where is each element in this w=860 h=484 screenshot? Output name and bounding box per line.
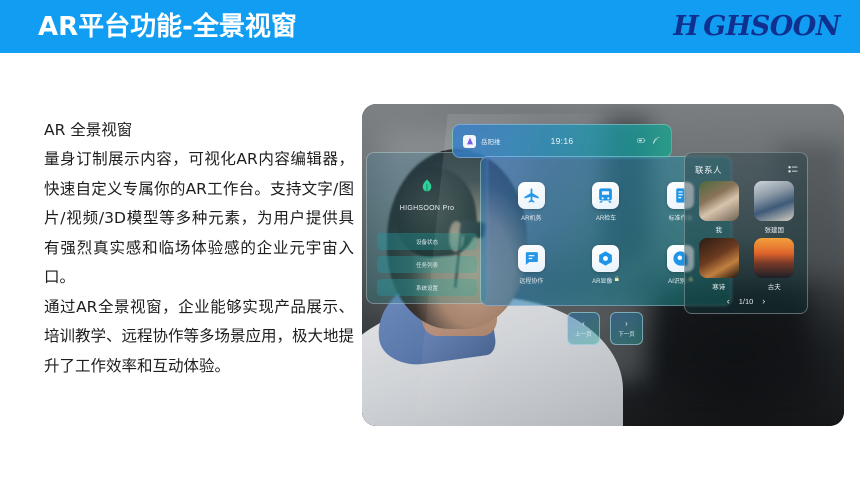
description-paragraph-1: 量身订制展示内容，可视化AR内容编辑器，快速自定义专属你的AR工作台。支持文字/… [44,145,354,293]
app-label: AR显像 [592,276,620,285]
contact-item[interactable]: 古夫 [752,238,798,291]
contact-item[interactable]: 我 [696,181,742,234]
page-title: AR平台功能-全景视窗 [38,14,297,40]
avatar [754,181,794,221]
ar-side-panel[interactable]: HIGHSOON Pro 设备状态 任务列表 系统设置 [366,152,488,304]
contact-item[interactable]: 张建国 [752,181,798,234]
train-car-icon [592,182,619,209]
side-panel-row[interactable]: 任务列表 [377,256,477,273]
list-menu-icon[interactable] [788,161,798,179]
prev-page-label: 上一页 [575,330,592,338]
page-header: AR平台功能-全景视窗 H GHSOON [0,0,860,53]
remote-chat-icon [518,245,545,272]
avatar [699,238,739,278]
app-item-ar-jiwu[interactable]: AR机务 [495,171,568,232]
contacts-header: 联系人 [695,161,798,179]
app-label-text: 远程协作 [519,276,543,285]
ar-hologram-layer: HIGHSOON Pro 设备状态 任务列表 系统设置 岳阳维 19:16 [362,104,844,426]
ar-status-bar: 岳阳维 19:16 [452,124,672,158]
contact-item[interactable]: 寒诗 [696,238,742,291]
wifi-signal-icon [652,136,661,147]
app-label-text: AR机务 [521,213,541,222]
contact-name: 张建国 [765,224,785,234]
chevron-left-icon: ‹ [582,320,585,328]
app-label: AR检车 [596,213,616,222]
airplane-icon [518,182,545,209]
side-panel-title: HIGHSOON Pro [367,205,487,212]
brand-logo: H GHSOON [673,11,840,42]
avatar [754,238,794,278]
app-badge-icon [463,135,476,148]
brand-logo-lead: H [673,11,698,42]
contacts-title: 联系人 [695,164,722,176]
contacts-pagination: ‹ 1/10 › [685,297,807,306]
app-label-text: AR显像 [592,276,612,285]
chevron-right-icon[interactable]: › [762,297,765,306]
app-item-ar-xianxiang[interactable]: AR显像 [570,234,643,295]
ar-contacts-panel: 联系人 我 张建国 寒诗 [684,152,808,314]
next-page-label: 下一页 [618,330,635,338]
app-label-text: AR检车 [596,213,616,222]
side-panel-row[interactable]: 系统设置 [377,279,477,296]
brand-logo-rest: GHSOON [703,11,840,42]
app-label: 远程协作 [519,276,543,285]
ar-page-buttons: ‹ 上一页 › 下一页 [567,312,643,345]
description-paragraph-2: 通过AR全景视窗，企业能够实现产品展示、培训教学、远程协作等多场景应用，极大地提… [44,293,354,382]
ar-scene-photo: HIGHSOON Pro 设备状态 任务列表 系统设置 岳阳维 19:16 [362,104,844,426]
contact-name: 寒诗 [712,281,725,291]
side-panel-row[interactable]: 设备状态 [377,233,477,250]
battery-icon [637,136,646,147]
app-item-yuancheng-xiezuo[interactable]: 远程协作 [495,234,568,295]
contacts-grid: 我 张建国 寒诗 古夫 [696,181,797,291]
contact-name: 我 [716,224,723,234]
highsoon-leaf-logo-icon [421,179,434,194]
next-page-button[interactable]: › 下一页 [610,312,643,345]
status-bar-app-name: 岳阳维 [481,136,501,146]
pagination-label: 1/10 [739,297,754,306]
app-label: AR机务 [521,213,541,222]
ar-camera-icon [592,245,619,272]
status-bar-indicators [637,136,661,147]
chevron-right-icon: › [625,320,628,328]
lock-icon [614,276,620,284]
contact-name: 古夫 [768,281,781,291]
app-item-ar-jreche[interactable]: AR检车 [570,171,643,232]
prev-page-button[interactable]: ‹ 上一页 [567,312,600,345]
description-heading: AR 全景视窗 [44,116,354,145]
chevron-left-icon[interactable]: ‹ [727,297,730,306]
avatar [699,181,739,221]
description-column: AR 全景视窗 量身订制展示内容，可视化AR内容编辑器，快速自定义专属你的AR工… [44,116,354,381]
